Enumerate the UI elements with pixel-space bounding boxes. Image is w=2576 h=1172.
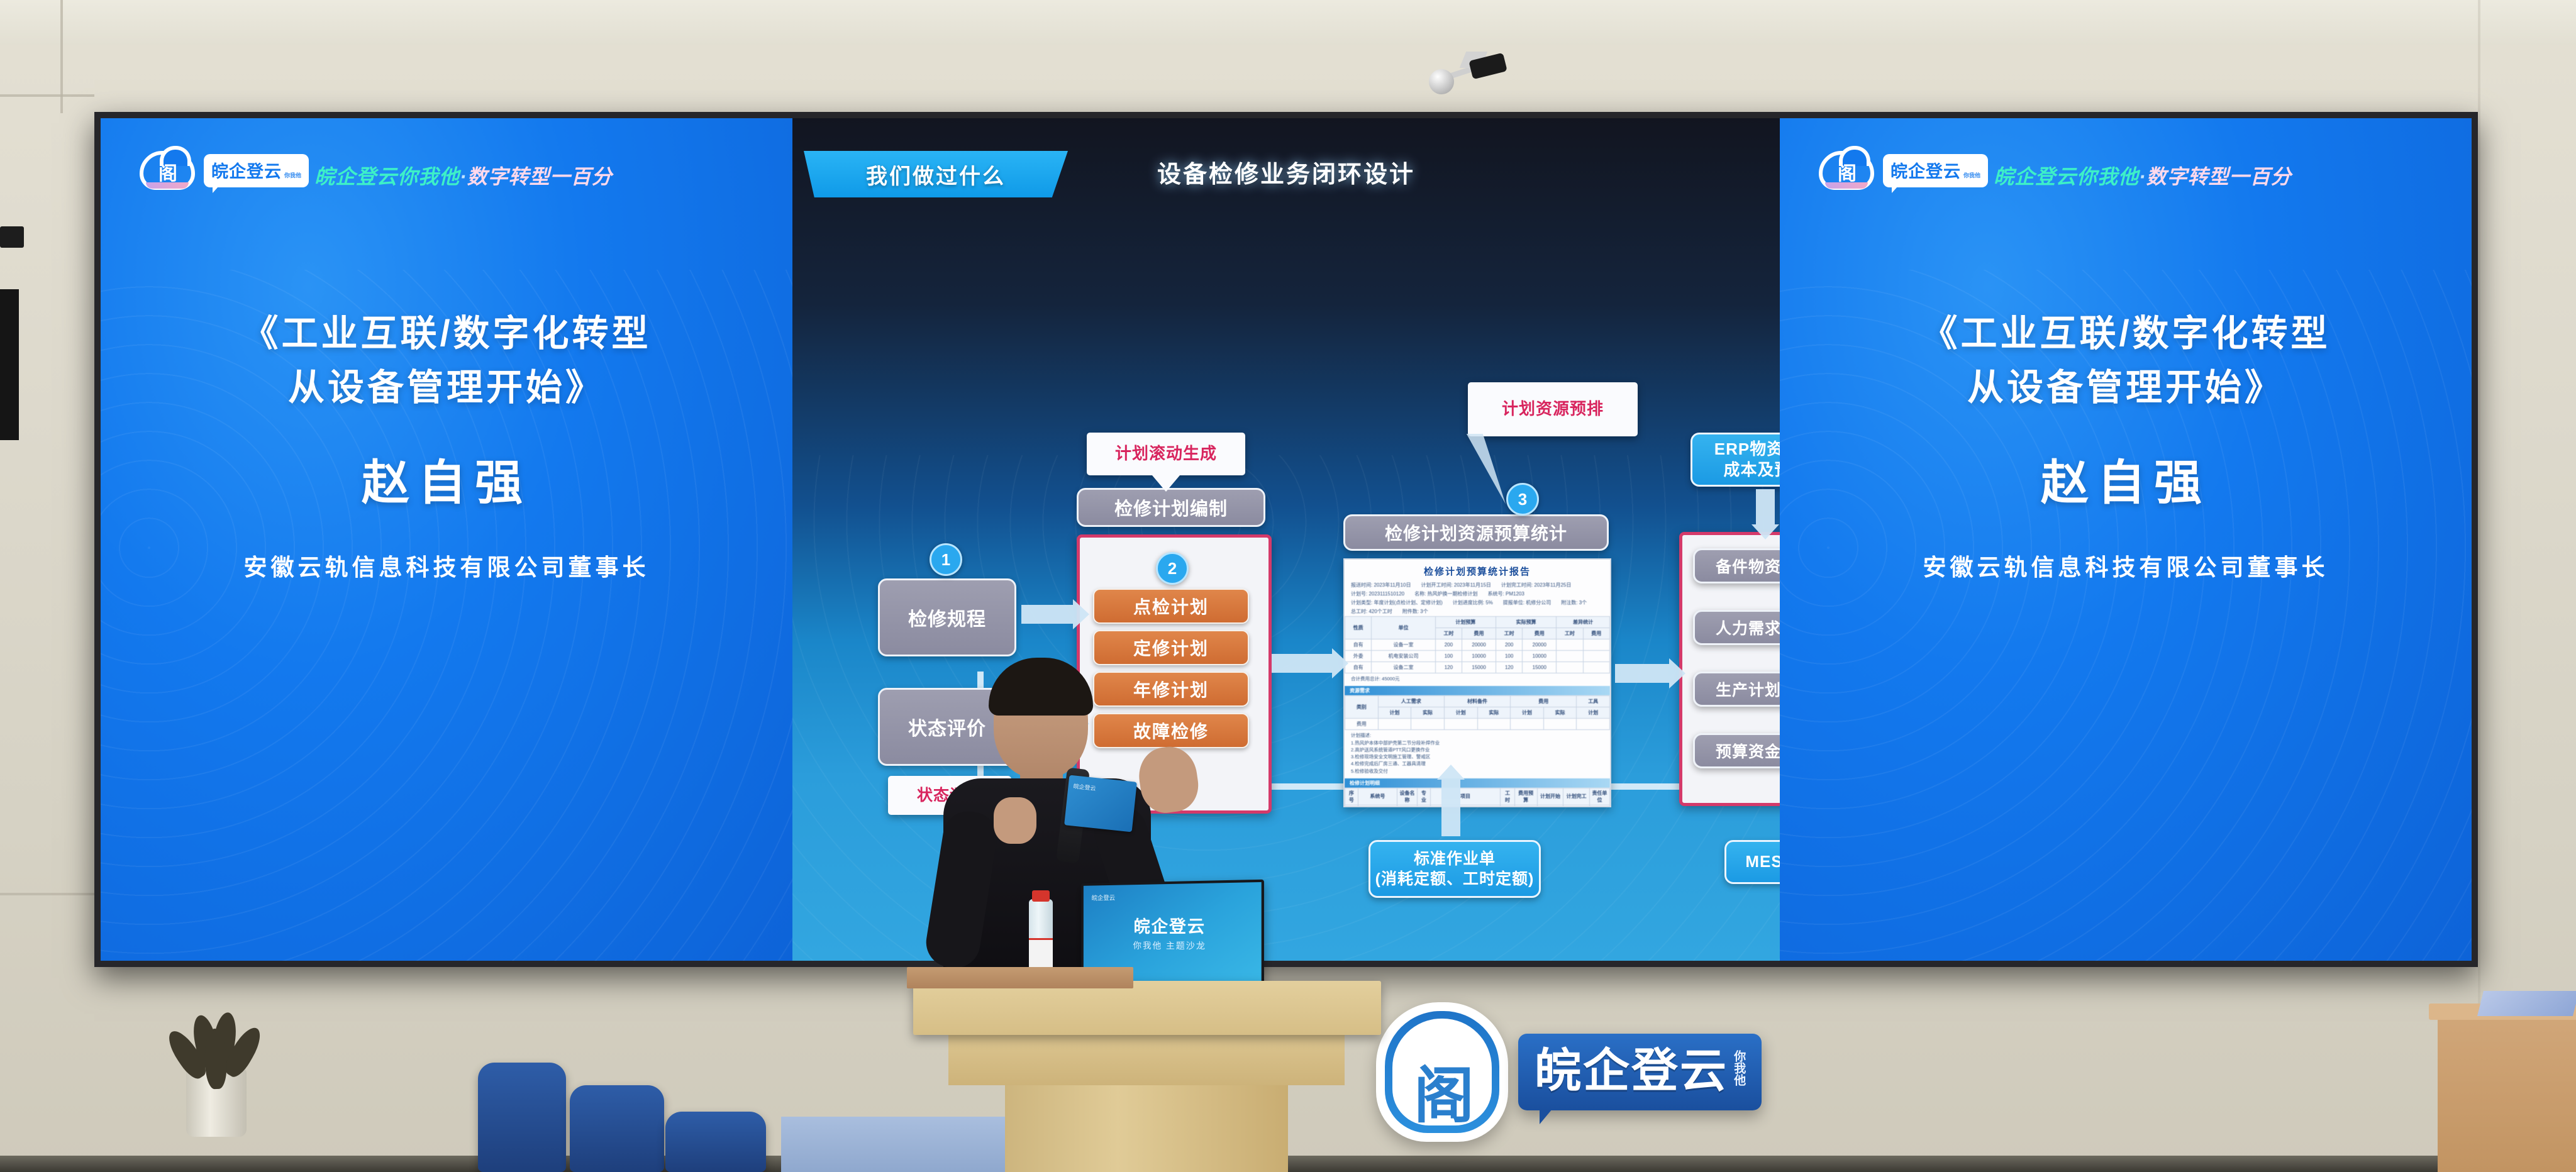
podium-column: [1005, 1085, 1288, 1172]
wall-seam: [0, 94, 94, 97]
stage-sign-plate: 皖企登云 你我他: [1518, 1034, 1762, 1110]
callout-rolling-plan: 计划滚动生成: [1087, 433, 1245, 475]
brand-logo: 阁 皖企登云 你我他: [140, 151, 309, 190]
table-row: 自有设备二室 12015000 12015000: [1345, 662, 1610, 673]
cloud-logo-icon: 阁: [140, 151, 195, 190]
arrow-report-to-resource: [1615, 664, 1669, 683]
node-erp-inventory: ERP物资库存 成本及预算: [1690, 433, 1780, 487]
audience-chair: [478, 1063, 566, 1172]
slide-title: 设备检修业务闭环设计: [792, 155, 1780, 189]
podium-front-lip: [907, 967, 1133, 988]
brand-name: 皖企登云: [211, 158, 282, 182]
callout-resource-prescheduling: 计划资源预排: [1468, 382, 1638, 436]
report-notes: 计划描述: 1.热风炉本体中部炉壳第二节分段补焊作业 2.高炉送风系统管道PTT…: [1345, 730, 1610, 777]
brand-pill: 皖企登云 你我他: [204, 154, 309, 187]
conference-room-photo: 阁 皖企登云 你我他 皖企登云你我他·数字转型一百分 《工业互联/数字化转型 从…: [0, 0, 2576, 1172]
report-resource-table: 类别 人工需求 材料备件 费用 工具 计划实际 计划实际 计划实际 计划: [1345, 695, 1610, 730]
report-budget-table: 性质 单位 计划预算 实际预算 差异统计 工时费用 工时费用 工时费用: [1345, 616, 1610, 673]
talk-title-line1: 《工业互联/数字化转型: [1780, 307, 2472, 361]
ceiling-band: [0, 0, 2576, 45]
resource-item-2: 生产计划检查: [1693, 672, 1780, 707]
potted-plant-leaves: [170, 1006, 264, 1081]
table-row: 1 PM1203111501热风炉 机械热风炉本体中部炉壳第二节分段补焊作业 1…: [1345, 805, 1610, 807]
arrow-to-plan-top: [1021, 605, 1073, 624]
embedded-report-screenshot: 检修计划预算统计报告 报送时间: 2023年11月10日计划开工时间: 2023…: [1343, 558, 1611, 807]
table-document-right: [2477, 991, 2576, 1016]
resource-item-1: 人力需求检查: [1693, 610, 1780, 645]
audience-chair: [570, 1085, 664, 1172]
brand-tagline: 皖企登云你我他·数字转型一百分: [314, 161, 613, 190]
report-title: 检修计划预算统计报告: [1345, 560, 1610, 580]
wall-seam: [2478, 0, 2480, 1172]
wall-switch: [0, 226, 24, 248]
plan-item-1: 定修计划: [1093, 630, 1249, 665]
right-info-panel: 阁 皖企登云 你我他 皖企登云你我他·数字转型一百分 《工业互联/数字化转型 从…: [1780, 118, 2472, 961]
step-badge-1: 1: [930, 543, 962, 576]
left-info-panel: 阁 皖企登云 你我他 皖企登云你我他·数字转型一百分 《工业互联/数字化转型 从…: [101, 118, 792, 961]
report-section-detail: 检修计划明细: [1345, 778, 1610, 788]
node-standard-work-order: 标准作业单 (消耗定额、工时定额): [1368, 840, 1541, 898]
plan-item-3: 故障检修: [1093, 713, 1249, 748]
brand-pill: 皖企登云 你我他: [1883, 154, 1988, 187]
wall-panel-dark: [0, 289, 19, 440]
laptop-logo: 皖企登云: [1092, 893, 1115, 902]
report-total-note: 合计费用总计: 45000元: [1345, 673, 1610, 684]
brand-name: 皖企登云: [1890, 158, 1961, 182]
stage-sign-main: 皖企登云: [1535, 1048, 1728, 1094]
audience-chair: [665, 1112, 766, 1172]
side-table-right: [2438, 1003, 2576, 1172]
brand-tagline: 皖企登云你我他·数字转型一百分: [1994, 161, 2292, 190]
speaker-organization: 安徽云轨信息科技有限公司董事长: [101, 548, 792, 582]
stage-sign-sub: 你我他: [1732, 1050, 1745, 1086]
report-meta: 报送时间: 2023年11月10日计划开工时间: 2023年11月15日计划完工…: [1345, 580, 1610, 616]
resource-item-0: 备件物资需求: [1693, 548, 1780, 583]
presenter-hand-left: [994, 797, 1036, 844]
brand-sub: 你我他: [284, 173, 301, 179]
floor-baseboard: [0, 1156, 2576, 1172]
wall-seam: [60, 0, 63, 113]
presentation-slide: 我们做过什么 设备检修业务闭环设计 计划滚动生成 计划资源预排 动态跟踪和检查资: [792, 118, 1780, 961]
wall-seam: [0, 893, 96, 895]
microphone-flag-badge: 皖企登云: [1064, 775, 1137, 832]
node-repair-procedure: 检修规程: [878, 578, 1016, 656]
speaker-name: 赵自强: [101, 444, 792, 513]
laptop-subtitle: 你我他 主题沙龙: [1084, 939, 1262, 953]
talk-title-line2: 从设备管理开始》: [1780, 361, 2472, 415]
table-row: 外委机电安装公司 10010000 10010000: [1345, 651, 1610, 662]
step-badge-2: 2: [1156, 552, 1189, 585]
brand-sub: 你我他: [1963, 173, 1980, 179]
step-badge-3: 3: [1506, 483, 1539, 516]
report-section-resource: 资源需求: [1345, 686, 1610, 695]
table-row: 费用: [1345, 719, 1610, 730]
plan-item-0: 点检计划: [1093, 589, 1249, 624]
arrow-erp-down: [1756, 489, 1775, 526]
arrow-plan-to-report: [1272, 654, 1332, 673]
brand-logo: 阁 皖企登云 你我他: [1819, 151, 1988, 190]
speaker-name: 赵自强: [1780, 444, 2472, 513]
podium-middle: [948, 1035, 1345, 1085]
stage-brand-sign: 阁 皖企登云 你我他: [1376, 1002, 1762, 1142]
talk-title-line2: 从设备管理开始》: [101, 361, 792, 415]
header-plan-preparation: 检修计划编制: [1077, 488, 1265, 527]
arrow-standard-workorder-up: [1441, 778, 1460, 836]
speaker-organization: 安徽云轨信息科技有限公司董事长: [1780, 548, 2472, 582]
report-detail-table: 序号系统号 设备名称专业 项目工时 费用预算计划开始 计划完工责任单位 1 PM…: [1345, 788, 1610, 807]
resource-item-3: 预算资金检查: [1693, 733, 1780, 768]
led-video-wall: 阁 皖企登云 你我他 皖企登云你我他·数字转型一百分 《工业互联/数字化转型 从…: [94, 112, 2478, 967]
plan-item-2: 年修计划: [1093, 672, 1249, 707]
table-row: 自有设备一室 20020000 20020000: [1345, 639, 1610, 651]
talk-title-line1: 《工业互联/数字化转型: [101, 307, 792, 361]
cloud-logo-icon: 阁: [1819, 151, 1874, 190]
mic-flag-label: 皖企登云: [1073, 782, 1096, 792]
stage-cloud-mark-icon: 阁: [1376, 1002, 1508, 1142]
header-budget-statistics: 检修计划资源预算统计: [1343, 514, 1609, 551]
podium-top: [913, 981, 1381, 1035]
node-mes-system: MES生产系统: [1724, 840, 1780, 884]
laptop-title: 皖企登云: [1084, 912, 1262, 938]
